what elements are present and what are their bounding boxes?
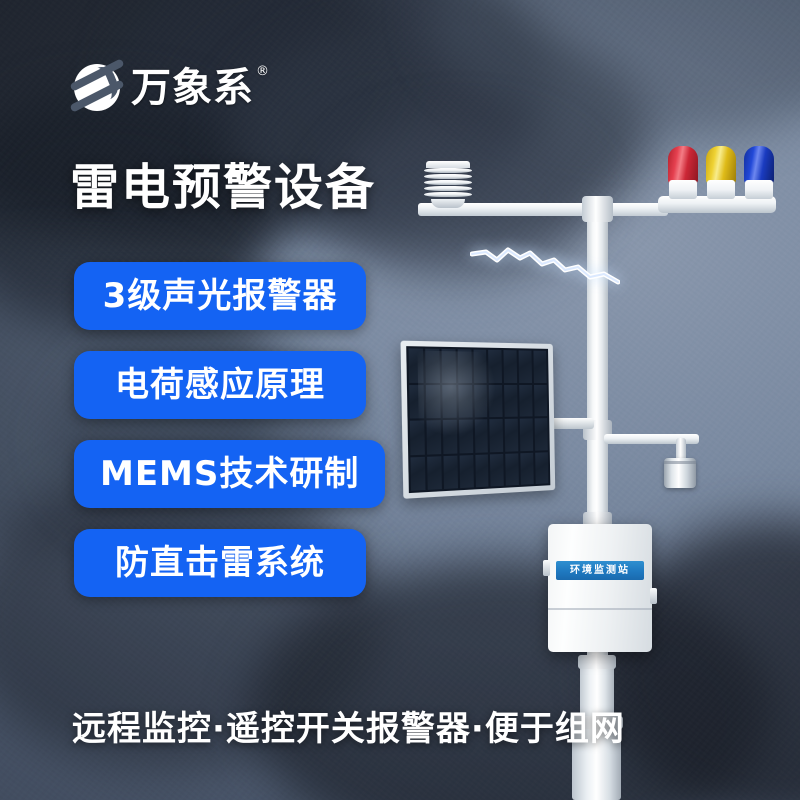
solar-cell — [490, 453, 504, 486]
solar-cell-grid — [406, 346, 550, 493]
solar-cell — [520, 418, 533, 450]
brand-logo: 万象系 ® — [72, 62, 254, 114]
solar-panel — [400, 341, 555, 499]
lightning-bolt-icon — [470, 236, 620, 300]
solar-cell — [519, 350, 532, 382]
yellow-alarm-beacon — [706, 146, 736, 203]
rain-sensor — [664, 458, 696, 488]
beacon-collar — [669, 180, 697, 199]
beacon-collar — [707, 180, 735, 199]
solar-cell — [475, 454, 489, 487]
solar-cell — [443, 455, 457, 489]
pole-joint — [578, 655, 616, 669]
solar-cell — [535, 452, 548, 484]
blue-alarm-beacon — [744, 146, 774, 203]
shield-fin — [424, 180, 472, 185]
solar-cell — [426, 385, 441, 419]
solar-panel-mount — [550, 418, 594, 429]
solar-cell — [490, 419, 504, 452]
shield-fin — [424, 168, 472, 173]
shield-fin — [424, 192, 472, 197]
solar-cell — [504, 385, 518, 417]
feature-pill-alarm: 3级声光报警器 — [74, 262, 366, 330]
solar-cell — [459, 420, 473, 453]
solar-cell — [534, 351, 547, 383]
solar-cell — [410, 420, 425, 454]
solar-cell — [474, 419, 488, 452]
feature-list: 3级声光报警器 电荷感应原理 MEMS技术研制 防直击雷系统 — [74, 262, 385, 597]
shield-fin — [424, 174, 472, 179]
feature-pill-label: 3级声光报警器 — [103, 279, 338, 313]
beacon-dome-icon — [744, 146, 774, 184]
solar-cell — [409, 385, 424, 419]
solar-cell — [425, 349, 440, 383]
solar-cell — [521, 452, 534, 485]
solar-cell — [519, 385, 532, 417]
solar-cell — [535, 418, 548, 450]
cabinet-name-plate: 环境监测站 — [556, 561, 644, 580]
solar-cell — [489, 350, 503, 383]
solar-cell — [506, 453, 520, 486]
beacon-dome-icon — [668, 146, 698, 184]
solar-cell — [504, 350, 518, 382]
solar-cell — [408, 348, 423, 382]
solar-cell — [442, 385, 456, 418]
cabinet-door-seam — [548, 608, 652, 610]
solar-cell — [489, 385, 503, 418]
feature-pill-label: 防直击雷系统 — [115, 546, 325, 580]
red-alarm-beacon — [668, 146, 698, 203]
feature-pill-label: MEMS技术研制 — [100, 457, 359, 491]
solar-cell — [457, 349, 471, 382]
product-poster: 环境监测站 万象系 ® 雷电预警设备 3级声光报警器 电荷感应原理 MEMS技术… — [0, 0, 800, 800]
shield-base — [431, 199, 465, 208]
brand-name: 万象系 ® — [131, 68, 254, 108]
feature-pill-principle: 电荷感应原理 — [74, 351, 366, 419]
solar-cell — [427, 456, 442, 490]
feature-pill-label: 电荷感应原理 — [115, 368, 325, 402]
shield-cap — [426, 161, 470, 168]
solar-cell — [459, 455, 473, 489]
crossarm-clamp — [582, 196, 613, 222]
cabinet-latch — [543, 560, 550, 576]
cabinet-label-text: 环境监测站 — [570, 566, 630, 576]
feature-pill-protection: 防直击雷系统 — [74, 529, 366, 597]
swoosh-circle-icon — [72, 62, 122, 114]
beacon-dome-icon — [706, 146, 736, 184]
solar-cell — [441, 349, 455, 382]
solar-cell — [410, 456, 425, 490]
solar-cell — [474, 385, 488, 418]
solar-panel-frame — [400, 341, 555, 499]
footer-tagline: 远程监控·遥控开关报警器·便于组网 — [72, 712, 625, 746]
solar-cell — [458, 385, 472, 418]
feature-pill-mems: MEMS技术研制 — [74, 440, 385, 508]
control-cabinet — [548, 524, 652, 652]
trademark-icon: ® — [256, 65, 270, 78]
cabinet-latch — [650, 588, 657, 604]
shield-fin — [424, 186, 472, 191]
solar-cell — [426, 420, 441, 454]
solar-cell — [505, 419, 519, 452]
solar-cell — [534, 384, 547, 416]
page-title: 雷电预警设备 — [70, 163, 376, 212]
radiation-shield-sensor — [424, 161, 472, 205]
brand-name-text: 万象系 — [131, 65, 254, 111]
solar-cell — [443, 420, 457, 454]
solar-cell — [473, 350, 487, 383]
beacon-collar — [745, 180, 773, 199]
